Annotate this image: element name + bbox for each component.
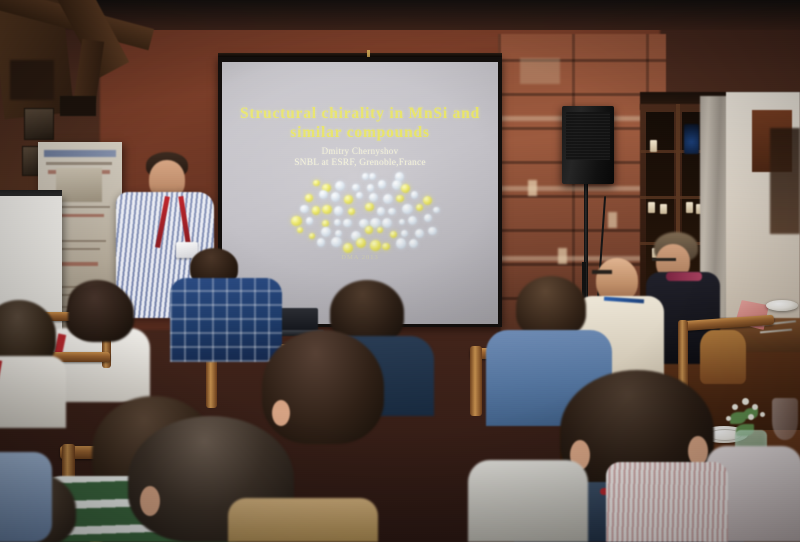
- foreground-center-ear: [272, 400, 290, 426]
- photo-scene: Structural chirality in MnSi and similar…: [0, 0, 800, 542]
- candle-1: [650, 140, 657, 152]
- poster-text-line-6: [58, 262, 98, 266]
- poster-header-band: [44, 150, 116, 157]
- lantern-ornament: [684, 124, 699, 154]
- poster-text-line-1: [46, 162, 112, 165]
- ceiling-beam-block: [10, 60, 54, 100]
- pa-speaker-grill: [566, 112, 610, 160]
- chair-post-7: [470, 346, 482, 416]
- candle-4: [686, 202, 693, 213]
- wine-glass: [772, 398, 798, 440]
- foreground-bottom-ear-left: [140, 486, 160, 516]
- chair-splat-2: [700, 330, 746, 384]
- dark-head-left-hair: [68, 284, 134, 342]
- flower-4: [748, 414, 754, 420]
- brick-detail-b: [558, 248, 567, 264]
- wall-frame-1: [24, 108, 54, 140]
- flower-3: [732, 404, 738, 410]
- flower-5: [726, 416, 731, 421]
- attendee-right-collar: [666, 272, 702, 281]
- brick-detail-a: [528, 180, 537, 196]
- gray-shirt-attendee: [468, 460, 588, 542]
- denim-man-hair: [516, 276, 586, 338]
- flower-1: [742, 398, 749, 405]
- plaid-shirt-body: [170, 278, 282, 362]
- wall-frame-3: [60, 96, 96, 116]
- brick-light-patch: [520, 58, 560, 84]
- flower-6: [760, 412, 765, 417]
- brick-detail-c: [608, 212, 617, 228]
- plate-far: [766, 300, 798, 311]
- bald-glasses-icon: [592, 270, 612, 274]
- foreground-center-hair: [262, 330, 384, 444]
- presenter-laptop: [276, 308, 318, 332]
- right-wall-shadow: [770, 128, 800, 234]
- left-upper-shirt: [0, 356, 66, 428]
- flower-2: [752, 404, 758, 410]
- poster-photo: [56, 168, 102, 202]
- candle-3: [660, 204, 667, 214]
- pinstripe-shirt-attendee: [606, 462, 728, 542]
- candle-2: [648, 202, 655, 213]
- glasses-icon: [652, 258, 676, 261]
- left-edge-shirt: [0, 452, 52, 542]
- tan-shirt-attendee: [228, 498, 378, 542]
